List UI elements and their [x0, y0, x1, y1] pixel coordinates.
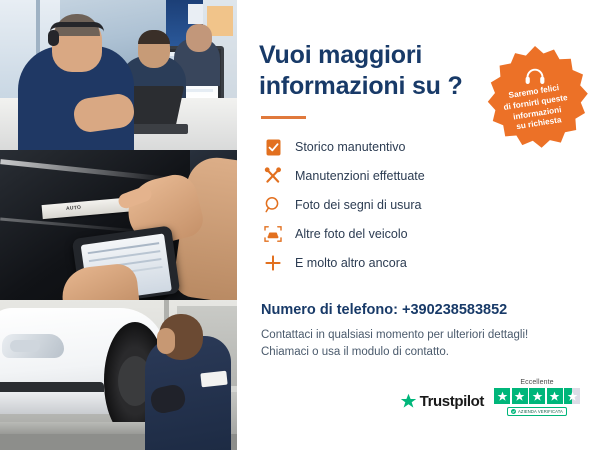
instructions-line-2: Chiamaci o usa il modulo di contatto. [261, 344, 572, 361]
vehicle-inspection-photo: AUTO [0, 150, 237, 300]
instructions-line-1: Contattaci in qualsiasi momento per ulte… [261, 327, 572, 344]
callout-badge: Saremo felici di fornirti queste informa… [480, 44, 590, 154]
star-half [564, 388, 580, 404]
list-item-label: Manutenzioni effettuate [295, 169, 425, 183]
tools-icon [261, 166, 285, 186]
list-item: Altre foto del veicolo [261, 220, 572, 249]
star-filled [547, 388, 563, 404]
headlight-shape [2, 334, 64, 358]
workshop-wheel-photo [0, 300, 237, 450]
list-item-label: Foto dei segni di usura [295, 198, 421, 212]
star-rating [494, 388, 580, 404]
rating-label: Eccellente [520, 379, 553, 386]
headset-band-shape [50, 22, 104, 32]
page-title: Vuoi maggiori informazioni su ? [259, 40, 474, 102]
mechanic-uniform-badge-shape [200, 371, 227, 388]
mechanic-face-shape [157, 328, 175, 354]
background-person-head-shape [186, 24, 212, 52]
phone-number[interactable]: Numero di telefono: +390238583852 [261, 302, 572, 318]
list-item-label: E molto altro ancora [295, 256, 407, 270]
list-item-label: Storico manutentivo [295, 140, 405, 154]
trustpilot-widget[interactable]: Trustpilot Eccellente [400, 379, 580, 416]
photo-column: AUTO [0, 0, 237, 450]
list-item: E molto altro ancora [261, 249, 572, 278]
verified-company-badge: AZIENDA VERIFICATA [507, 407, 567, 416]
trustpilot-name: Trustpilot [420, 393, 484, 410]
title-divider [261, 116, 306, 119]
plus-icon [261, 253, 285, 273]
content-panel: Vuoi maggiori informazioni su ? Storico … [237, 0, 600, 450]
star-filled [512, 388, 528, 404]
car-photo-icon [261, 224, 285, 244]
headline-line-1: Vuoi maggiori [259, 40, 474, 71]
verified-label: AZIENDA VERIFICATA [518, 409, 563, 414]
star-filled [529, 388, 545, 404]
call-center-photo [0, 0, 237, 150]
advertisement-banner: AUTO [0, 0, 600, 450]
verified-check-icon [511, 409, 516, 414]
headset-earcup-shape [48, 30, 59, 46]
trustpilot-rating: Eccellente [494, 379, 580, 416]
headline-line-2: informazioni su ? [259, 71, 474, 102]
trustpilot-star-icon [400, 393, 417, 410]
list-item: Manutenzioni effettuate [261, 162, 572, 191]
checkbox-icon [261, 137, 285, 157]
callout-badge-text: Saremo felici di fornirti queste informa… [472, 36, 598, 162]
strip-brand-text: AUTO [66, 205, 82, 212]
star-filled [494, 388, 510, 404]
trustpilot-logo: Trustpilot [400, 393, 484, 416]
contact-instructions: Contattaci in qualsiasi momento per ulte… [261, 327, 572, 362]
list-item: Foto dei segni di usura [261, 191, 572, 220]
magnifier-icon [261, 195, 285, 215]
list-item-label: Altre foto del veicolo [295, 227, 408, 241]
